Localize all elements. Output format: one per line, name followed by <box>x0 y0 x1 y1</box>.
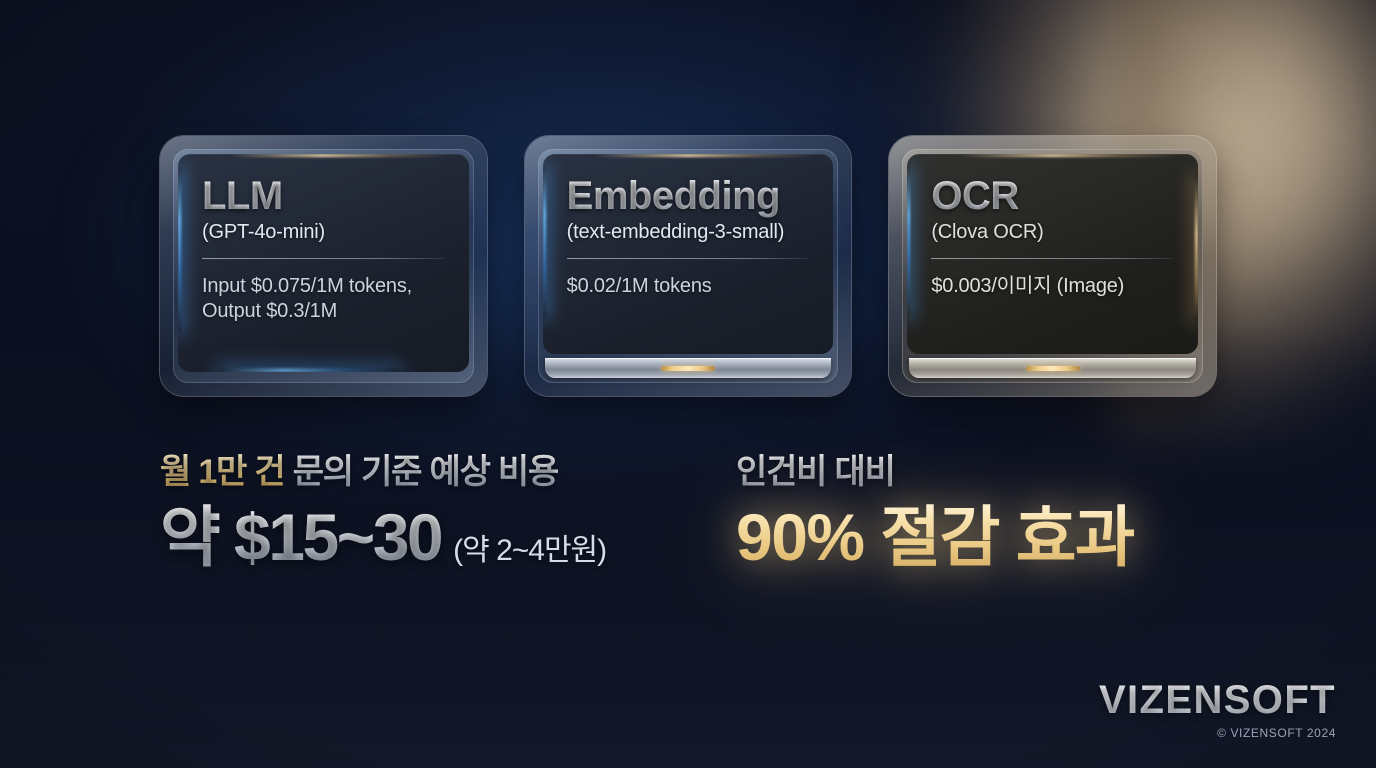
rim-light-bottom-blue-icon <box>219 369 399 372</box>
rim-light-top-gold-icon <box>230 154 451 157</box>
card-screen: OCR (Clova OCR) $0.003/이미지 (Image) <box>907 154 1198 354</box>
base-led-indicator-icon <box>1026 366 1080 371</box>
card-base-spacer <box>178 372 469 378</box>
card-title: OCR <box>931 176 1174 218</box>
brand-copyright: © VIZENSOFT 2024 <box>1099 726 1336 740</box>
card-title: LLM <box>202 176 445 218</box>
card-subtitle: (text-embedding-3-small) <box>567 221 810 244</box>
rim-light-top-gold-icon <box>960 154 1181 157</box>
rim-light-left-blue-icon <box>178 167 181 333</box>
service-card-embedding[interactable]: Embedding (text-embedding-3-small) $0.02… <box>525 136 852 396</box>
rim-light-top-gold-icon <box>595 154 816 157</box>
service-card-llm[interactable]: LLM (GPT-4o-mini) Input $0.075/1M tokens… <box>160 136 487 396</box>
headline-cost-block: 월 1만 건 문의 기준 예상 비용 약 $15~30 (약 2~4만원) <box>160 452 606 575</box>
card-subtitle: (Clova OCR) <box>931 221 1174 244</box>
card-subtitle: (GPT-4o-mini) <box>202 221 445 244</box>
card-bezel: LLM (GPT-4o-mini) Input $0.075/1M tokens… <box>173 149 474 383</box>
slide-canvas: LLM (GPT-4o-mini) Input $0.075/1M tokens… <box>0 0 1376 768</box>
card-bezel: OCR (Clova OCR) $0.003/이미지 (Image) <box>902 149 1203 383</box>
cost-kicker-silver: 문의 기준 예상 비용 <box>284 453 558 491</box>
savings-kicker: 인건비 대비 <box>736 452 1134 493</box>
headline-section: 월 1만 건 문의 기준 예상 비용 약 $15~30 (약 2~4만원) 인건… <box>0 452 1376 622</box>
rim-light-left-blue-icon <box>543 166 546 318</box>
card-base-bar <box>909 358 1196 378</box>
card-bezel: Embedding (text-embedding-3-small) $0.02… <box>538 149 839 383</box>
headline-savings-block: 인건비 대비 90% 절감 효과 <box>736 452 1134 575</box>
card-screen: Embedding (text-embedding-3-small) $0.02… <box>543 154 834 354</box>
rim-light-right-gold-icon <box>1195 174 1198 322</box>
rim-light-left-blue-icon <box>907 166 910 318</box>
brand-block: VIZENSOFT © VIZENSOFT 2024 <box>1099 678 1336 740</box>
cost-main-line: 약 $15~30 (약 2~4만원) <box>160 499 606 576</box>
card-title: Embedding <box>567 176 810 218</box>
cost-note: (약 2~4만원) <box>453 534 606 569</box>
card-screen: LLM (GPT-4o-mini) Input $0.075/1M tokens… <box>178 154 469 372</box>
card-divider <box>931 258 1174 259</box>
cost-kicker-gold: 월 1만 건 <box>160 453 284 491</box>
cost-amount: 약 $15~30 <box>160 499 441 576</box>
brand-logo-text: VIZENSOFT <box>1099 678 1336 723</box>
card-divider <box>202 258 445 259</box>
card-price: Input $0.075/1M tokens, Output $0.3/1M <box>202 274 445 325</box>
card-divider <box>567 258 810 259</box>
savings-main: 90% 절감 효과 <box>736 499 1134 576</box>
service-card-row: LLM (GPT-4o-mini) Input $0.075/1M tokens… <box>160 136 1216 396</box>
card-price: $0.02/1M tokens <box>567 274 810 300</box>
card-price: $0.003/이미지 (Image) <box>931 274 1174 300</box>
service-card-ocr[interactable]: OCR (Clova OCR) $0.003/이미지 (Image) <box>889 136 1216 396</box>
base-led-indicator-icon <box>661 366 715 371</box>
cost-kicker: 월 1만 건 문의 기준 예상 비용 <box>160 452 606 493</box>
card-base-bar <box>545 358 832 378</box>
